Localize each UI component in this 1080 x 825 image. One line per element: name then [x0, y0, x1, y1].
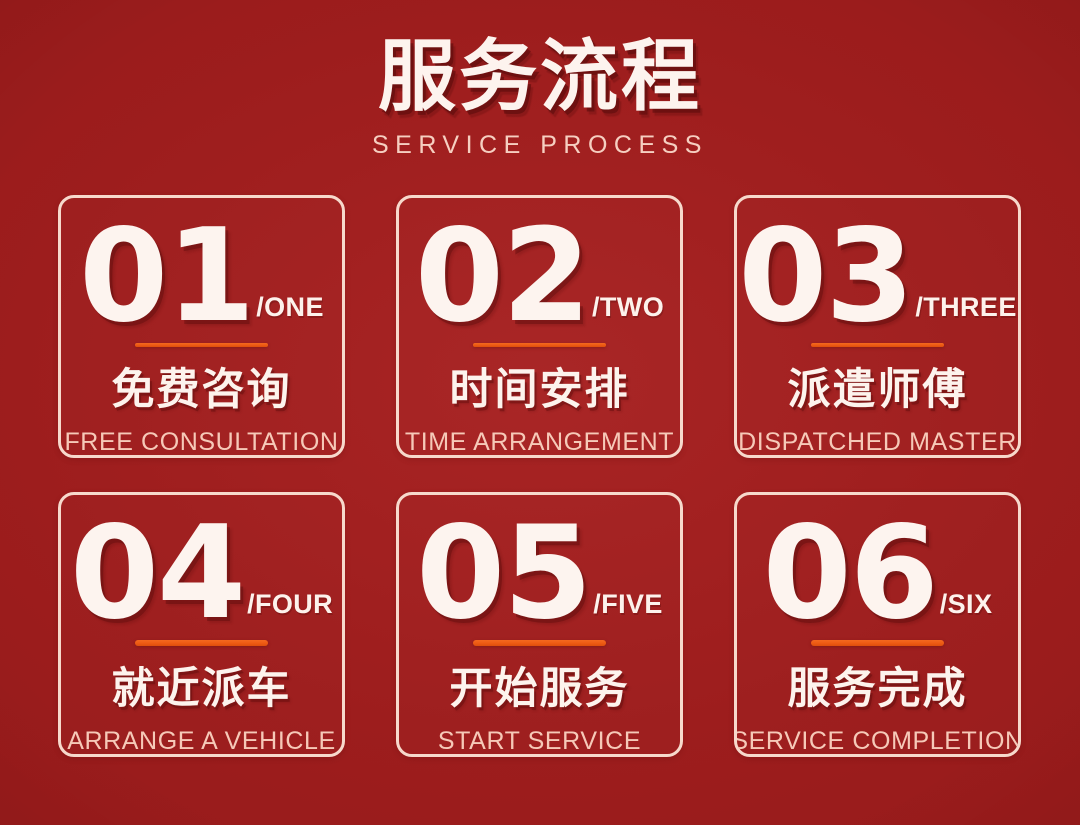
step-title-en: START SERVICE — [438, 729, 641, 754]
step-title-cn: 服务完成 — [788, 668, 968, 711]
step-card-03[interactable]: 03 /THREE 派遣师傅 DISPATCHED MASTER — [734, 195, 1021, 458]
step-number: 05 — [416, 510, 590, 638]
page-subtitle: SERVICE PROCESS — [0, 116, 1080, 158]
step-title-en: ARRANGE A VEHICLE — [67, 729, 336, 754]
step-number-row: 02 /TWO — [415, 213, 664, 331]
step-divider — [811, 640, 944, 646]
step-divider — [473, 343, 606, 347]
step-title-en: TIME ARRANGEMENT — [405, 430, 674, 455]
step-number-english: /TWO — [592, 294, 664, 321]
step-number-row: 04 /FOUR — [70, 510, 333, 628]
poster-header: 服务流程 SERVICE PROCESS — [0, 0, 1080, 158]
step-card-05[interactable]: 05 /FIVE 开始服务 START SERVICE — [396, 492, 683, 757]
step-divider — [811, 343, 944, 347]
step-number-english: /THREE — [915, 294, 1016, 321]
step-title-en: SERVICE COMPLETION — [734, 729, 1021, 754]
step-title-cn: 派遣师傅 — [788, 369, 968, 412]
step-title-en: DISPATCHED MASTER — [738, 430, 1017, 455]
step-number: 06 — [763, 510, 937, 638]
service-process-poster: 服务流程 SERVICE PROCESS 01 /ONE 免费咨询 FREE C… — [0, 0, 1080, 825]
page-title: 服务流程 — [0, 0, 1080, 116]
step-number-english: /FIVE — [593, 591, 663, 618]
step-number: 03 — [738, 213, 912, 341]
step-title-cn: 就近派车 — [112, 668, 292, 711]
steps-grid: 01 /ONE 免费咨询 FREE CONSULTATION 02 /TWO 时… — [58, 195, 1022, 757]
step-number-english: /SIX — [940, 591, 993, 618]
step-number-row: 03 /THREE — [738, 213, 1017, 331]
step-number-english: /FOUR — [247, 591, 333, 618]
step-number: 04 — [70, 510, 244, 638]
step-card-01[interactable]: 01 /ONE 免费咨询 FREE CONSULTATION — [58, 195, 345, 458]
step-card-04[interactable]: 04 /FOUR 就近派车 ARRANGE A VEHICLE — [58, 492, 345, 757]
step-number-english: /ONE — [256, 294, 324, 321]
step-title-cn: 时间安排 — [450, 369, 630, 412]
step-divider — [473, 640, 606, 646]
step-title-cn: 免费咨询 — [112, 369, 292, 412]
step-divider — [135, 343, 268, 347]
step-title-cn: 开始服务 — [450, 668, 630, 711]
step-card-02[interactable]: 02 /TWO 时间安排 TIME ARRANGEMENT — [396, 195, 683, 458]
step-card-06[interactable]: 06 /SIX 服务完成 SERVICE COMPLETION — [734, 492, 1021, 757]
step-number-row: 05 /FIVE — [416, 510, 663, 628]
step-divider — [135, 640, 268, 646]
step-number: 01 — [79, 213, 253, 341]
step-title-en: FREE CONSULTATION — [64, 430, 338, 455]
step-number-row: 01 /ONE — [79, 213, 324, 331]
step-number-row: 06 /SIX — [763, 510, 993, 628]
step-number: 02 — [415, 213, 589, 341]
